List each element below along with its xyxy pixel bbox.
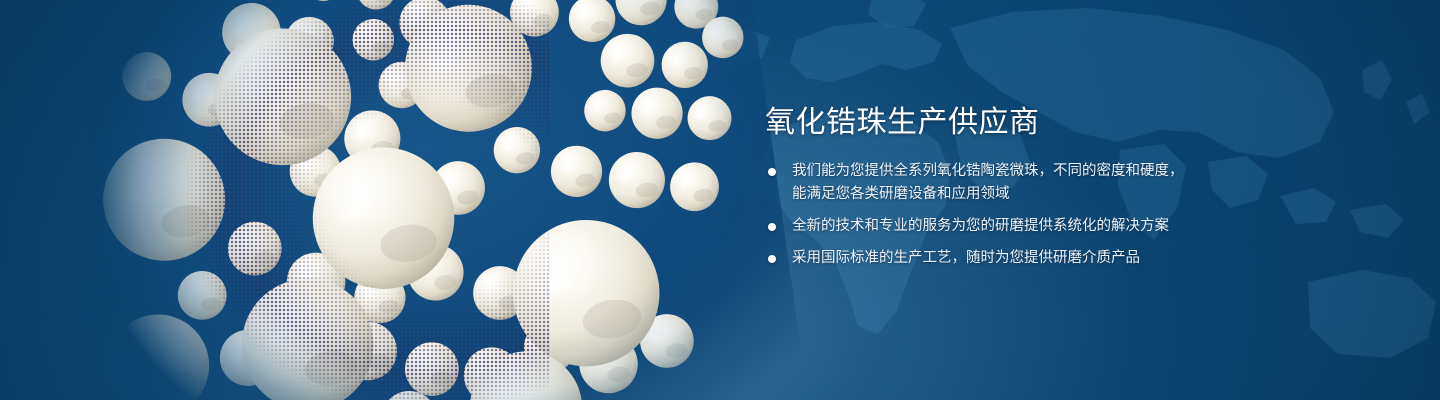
bullet-text-line: 全新的技术和专业的服务为您的研磨提供系统化的解决方案: [792, 215, 1285, 238]
zirconia-beads-photo: [150, 0, 710, 400]
bullet-item: 我们能为您提供全系列氧化锆陶瓷微珠，不同的密度和硬度， 能满足您各类研磨设备和应…: [765, 160, 1285, 206]
beads-photo-inner: [62, 0, 806, 400]
banner-bullet-list: 我们能为您提供全系列氧化锆陶瓷微珠，不同的密度和硬度， 能满足您各类研磨设备和应…: [765, 160, 1285, 270]
banner-headline: 氧化锆珠生产供应商: [765, 108, 1285, 138]
bullet-text-line: 我们能为您提供全系列氧化锆陶瓷微珠，不同的密度和硬度，: [792, 160, 1285, 183]
bullet-dot-icon: [768, 223, 776, 231]
bullet-text-line: 能满足您各类研磨设备和应用领域: [792, 183, 1285, 206]
bullet-dot-icon: [768, 255, 776, 263]
bullet-text-line: 采用国际标准的生产工艺，随时为您提供研磨介质产品: [792, 247, 1285, 270]
beads-photo-mask: [62, 0, 806, 400]
bullet-dot-icon: [768, 168, 776, 176]
banner-copy-block: 氧化锆珠生产供应商 我们能为您提供全系列氧化锆陶瓷微珠，不同的密度和硬度， 能满…: [765, 108, 1285, 270]
bullet-item: 采用国际标准的生产工艺，随时为您提供研磨介质产品: [765, 247, 1285, 270]
hero-banner: 氧化锆珠生产供应商 我们能为您提供全系列氧化锆陶瓷微珠，不同的密度和硬度， 能满…: [0, 0, 1440, 400]
bullet-item: 全新的技术和专业的服务为您的研磨提供系统化的解决方案: [765, 215, 1285, 238]
